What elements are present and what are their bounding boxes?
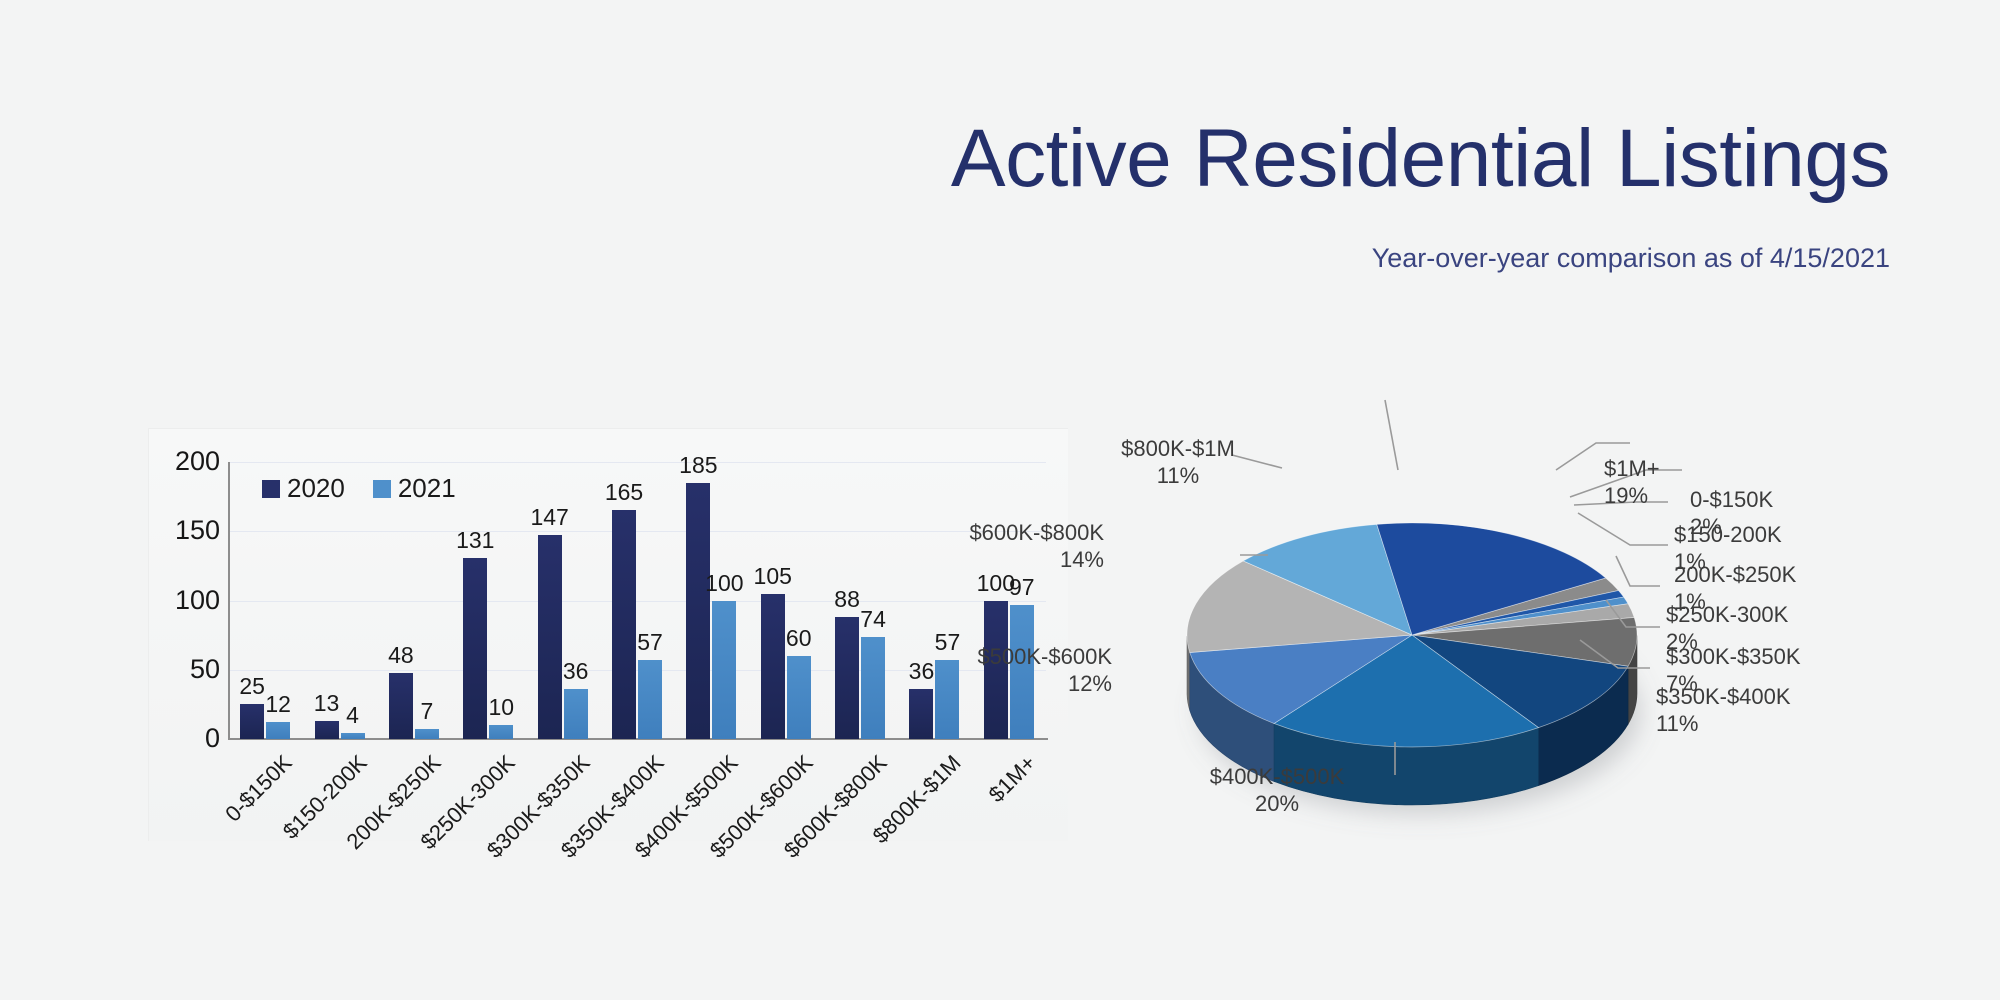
bar-value-label: 7 — [405, 700, 449, 723]
pie-slice-percent: 20% — [1157, 791, 1397, 818]
pie-slice-name: 0-$150K — [1690, 487, 1773, 512]
bar-2021[interactable] — [564, 689, 588, 739]
pie-slice-name: $600K-$800K — [969, 520, 1104, 545]
bar-value-label: 147 — [528, 506, 572, 529]
bar-2020[interactable] — [686, 483, 710, 739]
bar-group: 14736 — [538, 462, 588, 739]
pie-slices — [1187, 523, 1637, 747]
pie-slice-label: $1M+19% — [1604, 456, 1660, 510]
pie-slice-name: $150-200K — [1674, 522, 1782, 547]
pie-slice-label: $800K-$1M11% — [1058, 436, 1298, 490]
y-axis-tick-label: 50 — [152, 656, 220, 683]
pie-chart — [1060, 420, 2000, 940]
bar-2021[interactable] — [341, 733, 365, 739]
pie-chart-graphic — [1060, 420, 2000, 940]
pie-slice-percent: 11% — [1058, 463, 1298, 490]
bar-group: 134 — [315, 462, 365, 739]
pie-slice-name: $300K-$350K — [1666, 644, 1801, 669]
bar-2020[interactable] — [538, 535, 562, 739]
bar-value-label: 12 — [256, 693, 300, 716]
bar-chart-y-axis-ticks: 050100150200 — [150, 462, 220, 752]
pie-slice-label: $400K-$500K20% — [1157, 764, 1397, 818]
pie-slice-name: $400K-$500K — [1210, 764, 1345, 789]
bar-group: 10560 — [761, 462, 811, 739]
bar-2020[interactable] — [909, 689, 933, 739]
bar-value-label: 57 — [628, 631, 672, 654]
pie-slice-name: $350K-$400K — [1656, 684, 1791, 709]
pie-slice-label: $500K-$600K12% — [977, 644, 1112, 698]
bar-2020[interactable] — [761, 594, 785, 739]
bar-2021[interactable] — [266, 722, 290, 739]
bar-2020[interactable] — [612, 510, 636, 739]
bar-value-label: 105 — [751, 565, 795, 588]
bar-group: 16557 — [612, 462, 662, 739]
pie-slice-percent: 12% — [977, 671, 1112, 698]
y-axis-tick-label: 150 — [152, 517, 220, 544]
slide-canvas: Active Residential Listings Year-over-ye… — [0, 0, 2000, 1000]
bar-chart-x-axis-labels: 0-$150K$150-200K200K-$250K$250K-300K$300… — [228, 744, 1046, 864]
bar-group: 2512 — [240, 462, 290, 739]
pie-slice-name: $1M+ — [1604, 456, 1660, 481]
bar-group: 13110 — [463, 462, 513, 739]
bar-value-label: 10 — [479, 696, 523, 719]
bar-value-label: 100 — [702, 572, 746, 595]
bar-value-label: 165 — [602, 481, 646, 504]
page-title: Active Residential Listings — [0, 118, 1890, 200]
bar-group: 3657 — [909, 462, 959, 739]
pie-slice-percent: 19% — [1604, 483, 1660, 510]
y-axis-tick-label: 100 — [152, 587, 220, 614]
pie-slice-percent: 11% — [1656, 711, 1791, 738]
bar-chart-bars: 2512134487131101473616557185100105608874… — [228, 462, 1046, 739]
x-axis-tick-label: 0-$150K — [220, 750, 297, 827]
bar-group: 8874 — [835, 462, 885, 739]
bar-value-label: 60 — [777, 627, 821, 650]
y-axis-tick-label: 0 — [152, 725, 220, 752]
bar-2021[interactable] — [489, 725, 513, 739]
bar-value-label: 57 — [925, 631, 969, 654]
bar-2021[interactable] — [787, 656, 811, 739]
bar-2021[interactable] — [712, 601, 736, 740]
page-subtitle: Year-over-year comparison as of 4/15/202… — [0, 243, 1890, 274]
bar-value-label: 74 — [851, 608, 895, 631]
bar-group: 487 — [389, 462, 439, 739]
pie-slice-name: $800K-$1M — [1121, 436, 1235, 461]
bar-2021[interactable] — [415, 729, 439, 739]
bar-2021[interactable] — [861, 637, 885, 739]
bar-2021[interactable] — [935, 660, 959, 739]
bar-value-label: 185 — [676, 454, 720, 477]
bar-group: 185100 — [686, 462, 736, 739]
pie-slice-name: 200K-$250K — [1674, 562, 1796, 587]
bar-value-label: 131 — [453, 529, 497, 552]
pie-slice-name: $500K-$600K — [977, 644, 1112, 669]
bar-2020[interactable] — [835, 617, 859, 739]
pie-slice-label: $600K-$800K14% — [969, 520, 1104, 574]
x-axis-tick-label: $1M+ — [983, 750, 1041, 808]
y-axis-tick-label: 200 — [152, 448, 220, 475]
bar-value-label: 48 — [379, 644, 423, 667]
bar-value-label: 36 — [554, 660, 598, 683]
pie-slice-label: $350K-$400K11% — [1656, 684, 1791, 738]
bar-value-label: 97 — [1000, 576, 1044, 599]
pie-slice-percent: 14% — [969, 547, 1104, 574]
bar-2021[interactable] — [638, 660, 662, 739]
bar-value-label: 4 — [331, 704, 375, 727]
pie-slice-name: $250K-300K — [1666, 602, 1788, 627]
